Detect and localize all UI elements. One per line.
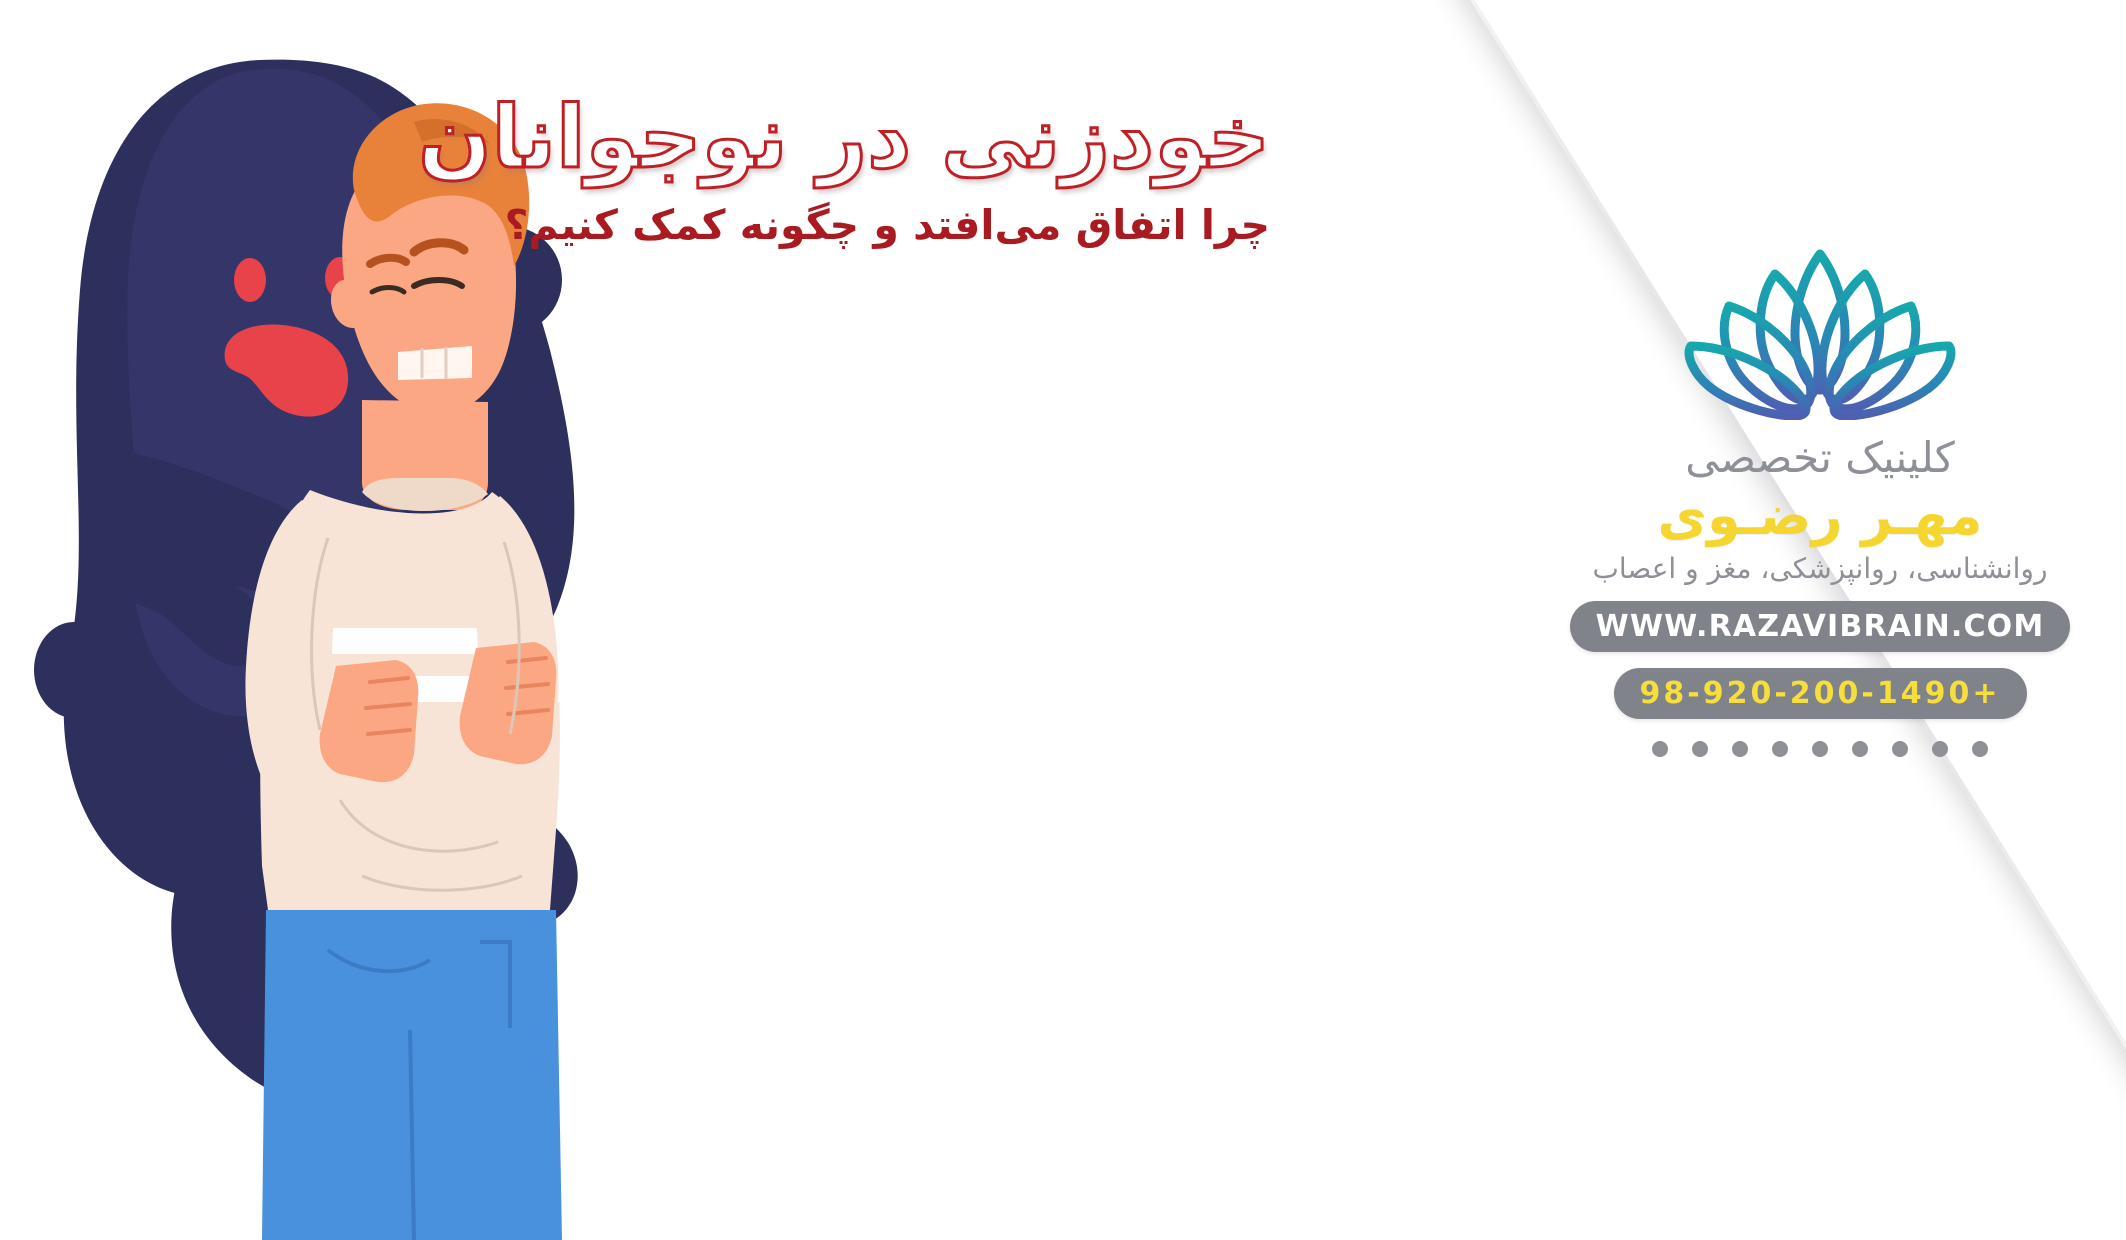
clinic-specialties: روانشناسی، روانپزشکی، مغز و اعصاب — [1560, 552, 2080, 586]
separator-dot — [1772, 741, 1788, 757]
clinic-label: کلینیک تخصصی — [1560, 434, 2080, 482]
separator-dot — [1892, 741, 1908, 757]
separator-dot — [1932, 741, 1948, 757]
monster-left-eye — [234, 258, 266, 302]
phone-pill[interactable]: +98-920-200-1490 — [1614, 668, 2027, 719]
banner-root: خودزنی در نوجوانان چرا اتفاق می‌افتد و چ… — [0, 0, 2126, 1240]
headline-block: خودزنی در نوجوانان چرا اتفاق می‌افتد و چ… — [550, 90, 1270, 252]
separator-dot — [1732, 741, 1748, 757]
separator-dot — [1972, 741, 1988, 757]
lotus-flower-icon — [1655, 240, 1985, 420]
page-title: خودزنی در نوجوانان — [550, 90, 1270, 186]
separator-dot — [1692, 741, 1708, 757]
clinic-name: مهـر رضـوی — [1560, 486, 2080, 545]
separator-dot — [1852, 741, 1868, 757]
brand-block: کلینیک تخصصی مهـر رضـوی روانشناسی، روانپ… — [1560, 240, 2080, 757]
page-subtitle: چرا اتفاق می‌افتد و چگونه کمک کنیم؟ — [550, 200, 1270, 251]
separator-dot — [1652, 741, 1668, 757]
decor-circle-left — [34, 622, 114, 718]
separator-dot — [1812, 741, 1828, 757]
website-pill[interactable]: WWW.RAZAVIBRAIN.COM — [1570, 601, 2071, 652]
person-teeth — [398, 346, 472, 380]
dot-separator — [1560, 741, 2080, 757]
